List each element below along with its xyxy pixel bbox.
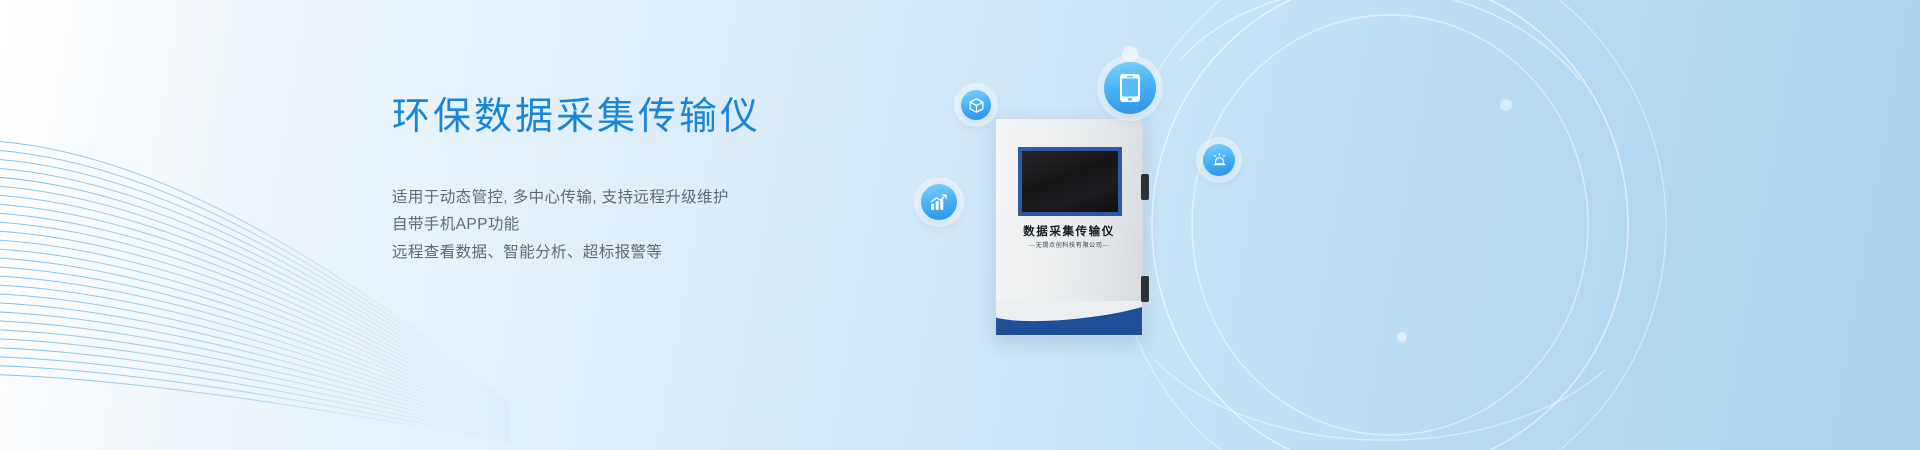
device-company-label: —无锡点创科技有限公司— [996, 240, 1142, 249]
bar-chart-growth-icon [921, 184, 957, 220]
device-screen-display [1022, 151, 1118, 212]
device-hinge-top [1141, 174, 1149, 200]
banner-subline-2: 自带手机APP功能 [392, 211, 912, 239]
device-hinge-bottom [1141, 276, 1149, 302]
data-acquisition-device-image: 数据采集传输仪 —无锡点创科技有限公司— [995, 118, 1143, 336]
banner-subline-list: 适用于动态管控, 多中心传输, 支持远程升级维护 自带手机APP功能 远程查看数… [392, 184, 912, 267]
mobile-phone-icon [1104, 62, 1156, 114]
device-screen-bezel [1018, 147, 1122, 216]
device-footer-band [996, 301, 1142, 335]
background-decoration [0, 0, 1920, 450]
banner-subline-1: 适用于动态管控, 多中心传输, 支持远程升级维护 [392, 184, 912, 212]
banner-subline-3: 远程查看数据、智能分析、超标报警等 [392, 239, 912, 267]
product-composition: 数据采集传输仪 —无锡点创科技有限公司— [995, 30, 1555, 430]
banner-headline: 环保数据采集传输仪 [392, 96, 912, 140]
alarm-siren-icon [1203, 144, 1235, 176]
3d-box-icon [961, 90, 991, 120]
device-body: 数据采集传输仪 —无锡点创科技有限公司— [995, 118, 1143, 336]
banner-copy: 环保数据采集传输仪 适用于动态管控, 多中心传输, 支持远程升级维护 自带手机A… [392, 96, 912, 266]
device-brand-label: 数据采集传输仪 [996, 223, 1142, 239]
